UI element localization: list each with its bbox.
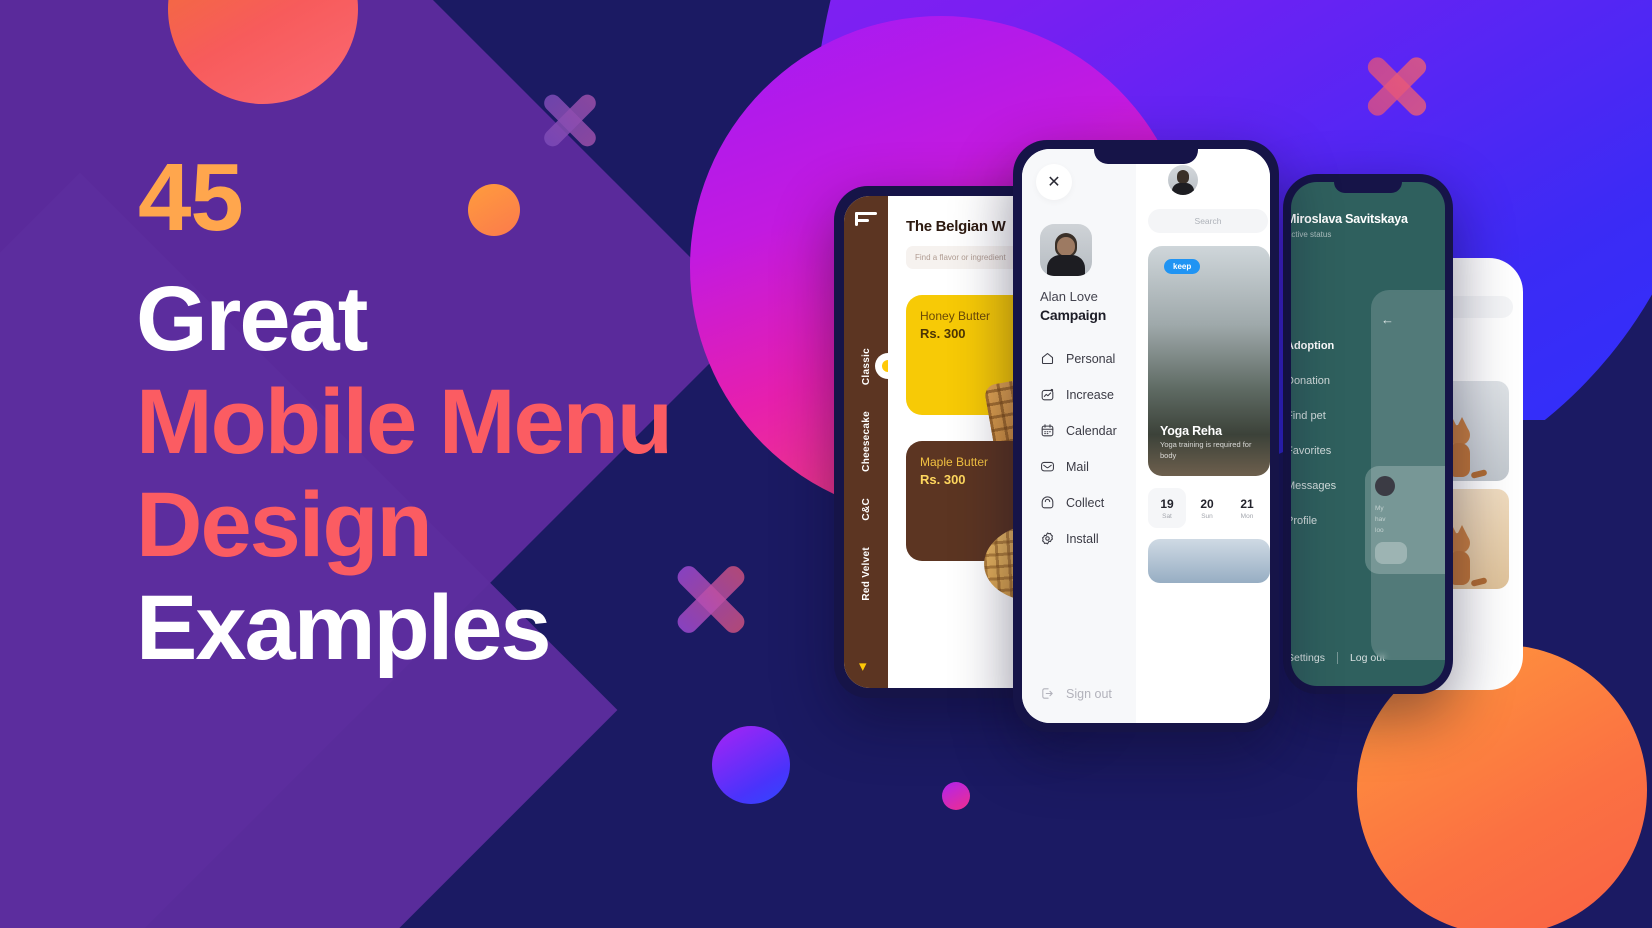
menu-item-messages[interactable]: Messages bbox=[1291, 480, 1336, 492]
chat-preview-card[interactable]: Myhavloo bbox=[1365, 466, 1445, 574]
phone-notch bbox=[1334, 182, 1402, 193]
menu-item-label: Mail bbox=[1066, 460, 1089, 474]
tab-cc[interactable]: C&C bbox=[861, 498, 872, 521]
menu-item-profile[interactable]: Profile bbox=[1291, 515, 1336, 527]
phone-mockup-pet-menu: Miroslava Savitskaya Active status Adopt… bbox=[1283, 174, 1453, 694]
user-role: Campaign bbox=[1040, 307, 1136, 323]
menu-item-label: Calendar bbox=[1066, 424, 1117, 438]
chart-square-icon bbox=[1040, 387, 1055, 402]
tab-cheesecake[interactable]: Cheesecake bbox=[861, 411, 872, 472]
hero-title: Yoga Reha bbox=[1160, 424, 1222, 438]
home-icon bbox=[1040, 351, 1055, 366]
arrow-left-icon[interactable]: ← bbox=[1381, 312, 1394, 327]
menu-list: Personal Increase bbox=[1040, 351, 1136, 546]
phone-mockup-main-menu: ✕ Alan Love Campaign Personal bbox=[1013, 140, 1279, 732]
gear-icon bbox=[1040, 531, 1055, 546]
menu-item-increase[interactable]: Increase bbox=[1040, 387, 1136, 402]
avatar[interactable] bbox=[1040, 224, 1092, 276]
status-badge: keep bbox=[1164, 259, 1200, 274]
menu-item-donation[interactable]: Donation bbox=[1291, 375, 1336, 387]
menu-item-mail[interactable]: Mail bbox=[1040, 459, 1136, 474]
count-number: 45 bbox=[138, 150, 671, 246]
chat-preview-text: Myhavloo bbox=[1375, 503, 1445, 536]
phone-notch bbox=[1094, 149, 1198, 164]
menu-item-label: Increase bbox=[1066, 388, 1114, 402]
headline-line-3: Design bbox=[136, 474, 671, 577]
menu-item-collect[interactable]: Collect bbox=[1040, 495, 1136, 510]
calendar-icon bbox=[1040, 423, 1055, 438]
headline-block: 45 Great Mobile Menu Design Examples bbox=[136, 150, 671, 680]
headline-line-2: Mobile Menu bbox=[136, 371, 671, 474]
next-card[interactable] bbox=[1148, 539, 1270, 583]
menu-item-favorites[interactable]: Favorites bbox=[1291, 445, 1336, 457]
date-item[interactable]: 21 Mon bbox=[1228, 488, 1266, 528]
sign-out-button[interactable]: Sign out bbox=[1040, 686, 1112, 701]
date-weekday: Sun bbox=[1201, 513, 1213, 520]
glass-overlay-card: ← Myhavloo bbox=[1371, 290, 1445, 660]
hero-subtitle: Yoga training is required for body bbox=[1160, 440, 1264, 462]
headline-line-4: Examples bbox=[136, 577, 671, 680]
search-placeholder: Search bbox=[1195, 216, 1222, 226]
menu-item-personal[interactable]: Personal bbox=[1040, 351, 1136, 366]
tab-red-velvet[interactable]: Red Velvet bbox=[861, 547, 872, 601]
poster-canvas: 45 Great Mobile Menu Design Examples Sea… bbox=[0, 0, 1652, 928]
envelope-icon bbox=[1040, 459, 1055, 474]
chat-action-button[interactable] bbox=[1375, 542, 1407, 564]
date-item[interactable]: 19 Sat bbox=[1148, 488, 1186, 528]
menu-item-calendar[interactable]: Calendar bbox=[1040, 423, 1136, 438]
search-input[interactable]: Search bbox=[1148, 209, 1268, 233]
menu-item-find-pet[interactable]: Find pet bbox=[1291, 410, 1336, 422]
side-menu-panel: ✕ Alan Love Campaign Personal bbox=[1022, 149, 1136, 723]
tab-classic[interactable]: Classic bbox=[861, 348, 872, 385]
user-name: Alan Love bbox=[1040, 289, 1136, 304]
search-placeholder: Find a flavor or ingredient bbox=[915, 253, 1006, 262]
user-status: Active status bbox=[1291, 230, 1331, 239]
date-item[interactable]: 20 Sun bbox=[1188, 488, 1226, 528]
tiny-magenta-dot bbox=[942, 782, 970, 810]
close-icon[interactable]: ✕ bbox=[1036, 164, 1072, 200]
date-day: 19 bbox=[1160, 497, 1173, 511]
pet-menu-list: Adoption Donation Find pet Favorites Mes… bbox=[1291, 340, 1336, 550]
menu-item-label: Install bbox=[1066, 532, 1099, 546]
pet-menu-footer: Settings Log out bbox=[1291, 652, 1385, 664]
pet-menu-screen: Miroslava Savitskaya Active status Adopt… bbox=[1291, 182, 1445, 686]
main-menu-screen: ✕ Alan Love Campaign Personal bbox=[1022, 149, 1270, 723]
waffle-side-rail: Classic Cheesecake C&C Red Velvet ▾ bbox=[844, 196, 888, 688]
x-cross-icon-center bbox=[672, 560, 750, 638]
x-cross-icon-left bbox=[538, 88, 602, 152]
hamburger-icon[interactable] bbox=[855, 212, 877, 228]
content-panel: Search keep Yoga Reha Yoga training is r… bbox=[1136, 149, 1270, 723]
date-weekday: Mon bbox=[1241, 513, 1254, 520]
x-cross-icon-right bbox=[1363, 52, 1431, 120]
footer-separator bbox=[1337, 652, 1338, 664]
date-weekday: Sat bbox=[1162, 513, 1172, 520]
date-day: 20 bbox=[1200, 497, 1213, 511]
settings-link[interactable]: Settings bbox=[1291, 652, 1325, 664]
bag-icon bbox=[1040, 495, 1055, 510]
chevron-down-icon[interactable]: ▾ bbox=[859, 659, 867, 674]
avatar[interactable] bbox=[1168, 165, 1198, 195]
menu-item-label: Collect bbox=[1066, 496, 1104, 510]
sign-out-icon bbox=[1040, 686, 1055, 701]
menu-item-adoption[interactable]: Adoption bbox=[1291, 340, 1336, 352]
menu-item-label: Personal bbox=[1066, 352, 1115, 366]
user-name: Miroslava Savitskaya bbox=[1291, 212, 1408, 226]
hero-card[interactable]: keep Yoga Reha Yoga training is required… bbox=[1148, 246, 1270, 476]
sign-out-label: Sign out bbox=[1066, 687, 1112, 701]
avatar bbox=[1375, 476, 1395, 496]
date-day: 21 bbox=[1240, 497, 1253, 511]
menu-item-install[interactable]: Install bbox=[1040, 531, 1136, 546]
blue-dot bbox=[712, 726, 790, 804]
headline-line-1: Great bbox=[136, 268, 671, 371]
date-strip: 19 Sat 20 Sun 21 Mon bbox=[1148, 488, 1270, 528]
